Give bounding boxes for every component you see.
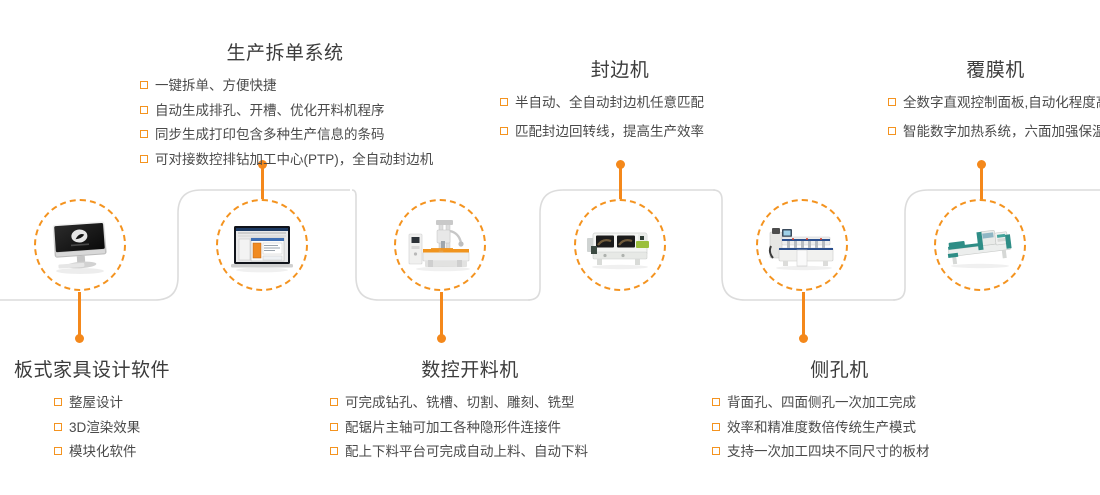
bullet-list: 一键拆单、方便快捷 自动生成排孔、开槽、优化开料机程序 同步生成打印包含多种生产…: [140, 76, 430, 169]
side-hole-drilling-machine-icon: [765, 208, 839, 282]
bullet-list: 整屋设计 3D渲染效果 模块化软件: [14, 393, 244, 462]
desktop-computer-icon: [43, 208, 117, 282]
square-bullet-icon: [330, 398, 338, 406]
block-title: 生产拆单系统: [140, 38, 430, 65]
square-bullet-icon: [330, 447, 338, 455]
label-block-node-4: 封边机 半自动、全自动封边机任意匹配 匹配封边回转线，提高生产效率: [500, 55, 740, 141]
block-title: 封边机: [500, 55, 740, 82]
list-item: 半自动、全自动封边机任意匹配: [500, 93, 740, 113]
connector-stem-3: [440, 292, 443, 340]
list-item: 自动生成排孔、开槽、优化开料机程序: [140, 101, 430, 121]
flow-node-4[interactable]: [574, 199, 666, 291]
block-title: 覆膜机: [888, 55, 1100, 82]
square-bullet-icon: [712, 398, 720, 406]
block-title: 侧孔机: [712, 355, 967, 382]
square-bullet-icon: [54, 447, 62, 455]
square-bullet-icon: [500, 98, 508, 106]
bullet-list: 背面孔、四面侧孔一次加工完成 效率和精准度数倍传统生产模式 支持一次加工四块不同…: [712, 393, 967, 462]
square-bullet-icon: [500, 127, 508, 135]
block-title: 数控开料机: [330, 355, 610, 382]
bullet-list: 半自动、全自动封边机任意匹配 匹配封边回转线，提高生产效率: [500, 93, 740, 141]
laminating-machine-icon: [943, 208, 1017, 282]
square-bullet-icon: [140, 106, 148, 114]
list-item: 效率和精准度数倍传统生产模式: [712, 418, 967, 438]
square-bullet-icon: [54, 398, 62, 406]
list-item: 匹配封边回转线，提高生产效率: [500, 122, 740, 142]
connector-dot-6: [977, 160, 986, 169]
connector-dot-5: [799, 334, 808, 343]
square-bullet-icon: [712, 447, 720, 455]
edge-banding-machine-icon: [583, 208, 657, 282]
label-block-node-3: 数控开料机 可完成钻孔、铣槽、切割、雕刻、铣型 配锯片主轴可加工各种隐形件连接件…: [330, 355, 610, 462]
square-bullet-icon: [54, 423, 62, 431]
connector-stem-1: [78, 292, 81, 340]
square-bullet-icon: [712, 423, 720, 431]
list-item: 模块化软件: [54, 442, 244, 462]
connector-stem-5: [802, 292, 805, 340]
label-block-node-6: 覆膜机 全数字直观控制面板,自动化程度高 智能数字加热系统，六面加强保温: [888, 55, 1100, 141]
flow-node-6[interactable]: [934, 199, 1026, 291]
list-item: 同步生成打印包含多种生产信息的条码: [140, 125, 430, 145]
laptop-software-icon: [225, 208, 299, 282]
list-item: 3D渲染效果: [54, 418, 244, 438]
square-bullet-icon: [140, 155, 148, 163]
bullet-list: 可完成钻孔、铣槽、切割、雕刻、铣型 配锯片主轴可加工各种隐形件连接件 配上下料平…: [330, 393, 610, 462]
flow-node-2[interactable]: [216, 199, 308, 291]
cnc-router-machine-icon: [403, 208, 477, 282]
list-item: 可对接数控排钻加工中心(PTP)，全自动封边机: [140, 150, 430, 170]
process-flow-diagram: 生产拆单系统 一键拆单、方便快捷 自动生成排孔、开槽、优化开料机程序 同步生成打…: [0, 0, 1100, 495]
label-block-node-1: 板式家具设计软件 整屋设计 3D渲染效果 模块化软件: [14, 355, 244, 462]
list-item: 智能数字加热系统，六面加强保温: [888, 122, 1100, 142]
label-block-node-2: 生产拆单系统 一键拆单、方便快捷 自动生成排孔、开槽、优化开料机程序 同步生成打…: [140, 38, 430, 169]
flow-node-3[interactable]: [394, 199, 486, 291]
square-bullet-icon: [140, 130, 148, 138]
list-item: 配锯片主轴可加工各种隐形件连接件: [330, 418, 610, 438]
list-item: 背面孔、四面侧孔一次加工完成: [712, 393, 967, 413]
list-item: 一键拆单、方便快捷: [140, 76, 430, 96]
block-title: 板式家具设计软件: [14, 355, 244, 382]
label-block-node-5: 侧孔机 背面孔、四面侧孔一次加工完成 效率和精准度数倍传统生产模式 支持一次加工…: [712, 355, 967, 462]
list-item: 整屋设计: [54, 393, 244, 413]
flow-node-5[interactable]: [756, 199, 848, 291]
list-item: 可完成钻孔、铣槽、切割、雕刻、铣型: [330, 393, 610, 413]
connector-dot-4: [616, 160, 625, 169]
bullet-list: 全数字直观控制面板,自动化程度高 智能数字加热系统，六面加强保温: [888, 93, 1100, 141]
square-bullet-icon: [140, 81, 148, 89]
list-item: 全数字直观控制面板,自动化程度高: [888, 93, 1100, 113]
list-item: 支持一次加工四块不同尺寸的板材: [712, 442, 967, 462]
square-bullet-icon: [888, 98, 896, 106]
connector-dot-3: [437, 334, 446, 343]
list-item: 配上下料平台可完成自动上料、自动下料: [330, 442, 610, 462]
square-bullet-icon: [888, 127, 896, 135]
connector-dot-1: [75, 334, 84, 343]
flow-node-1[interactable]: [34, 199, 126, 291]
square-bullet-icon: [330, 423, 338, 431]
